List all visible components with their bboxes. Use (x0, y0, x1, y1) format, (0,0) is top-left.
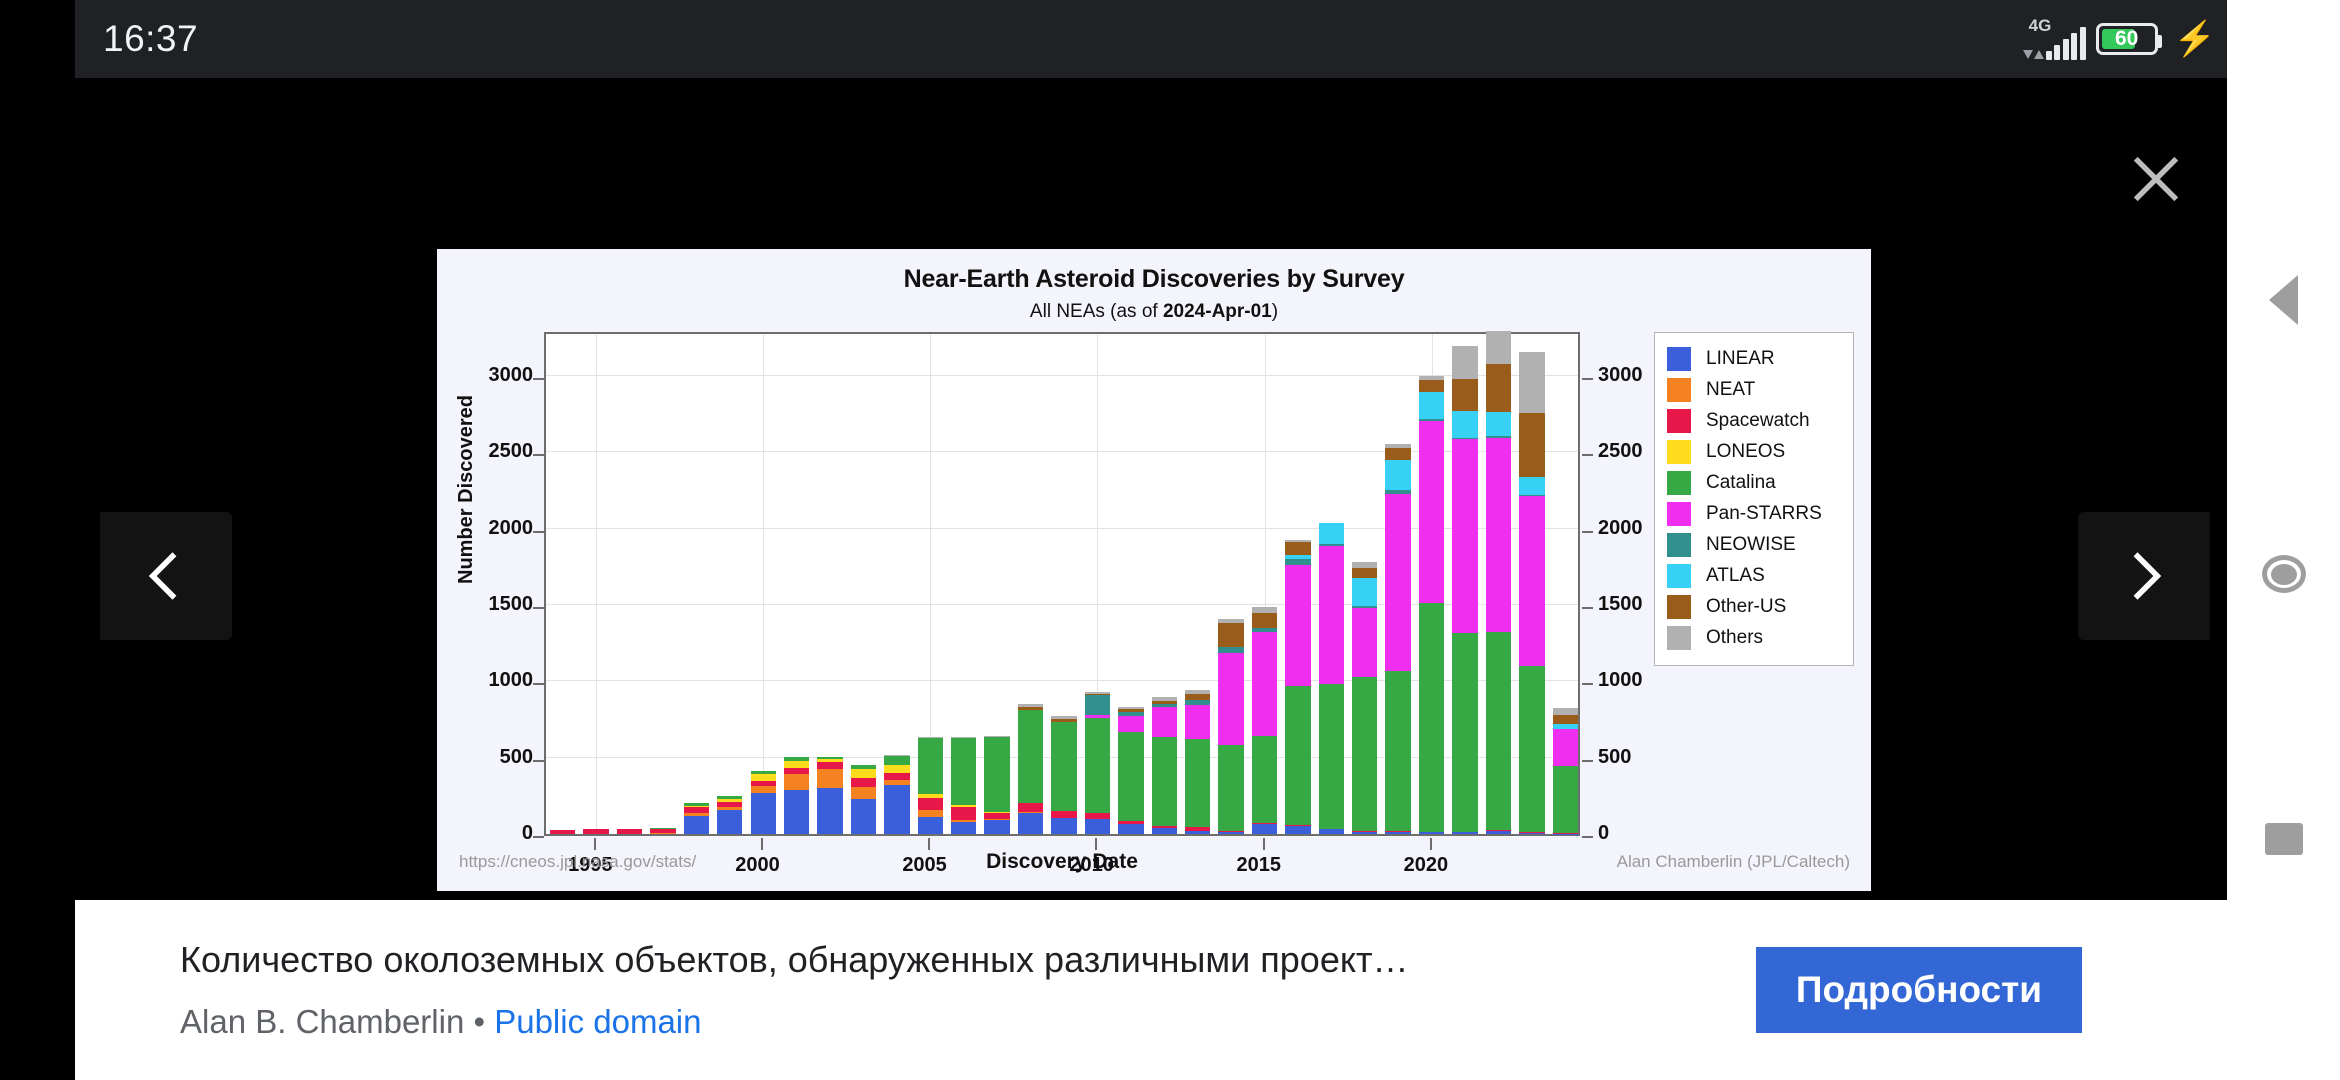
bar-segment (984, 737, 1009, 812)
bar-segment (1452, 832, 1477, 834)
bar-segment (550, 830, 575, 834)
y-axis-tick-label: 500 (500, 746, 533, 769)
bar-segment (1452, 633, 1477, 832)
legend-swatch (1667, 378, 1691, 402)
bar-segment (951, 807, 976, 820)
bar-segment (784, 774, 809, 789)
x-axis-tick-mark (928, 838, 930, 850)
bar-segment (751, 786, 776, 793)
chart-bar (1319, 523, 1344, 834)
legend-label: NEOWISE (1706, 534, 1796, 556)
x-axis-tick-mark (594, 838, 596, 850)
bar-segment (1185, 831, 1210, 834)
bar-segment (1419, 392, 1444, 419)
source-url: https://cneos.jpl.nasa.gov/stats/ (459, 852, 696, 872)
bar-segment (984, 820, 1009, 835)
bar-segment (1419, 603, 1444, 832)
signal-icon: 4G (2023, 18, 2086, 60)
bar-segment (1218, 745, 1243, 831)
bar-segment (1486, 438, 1511, 632)
bar-segment (1319, 523, 1344, 544)
bar-segment (851, 787, 876, 799)
chart-bar (617, 829, 642, 834)
legend-swatch (1667, 533, 1691, 557)
bar-segment (1385, 448, 1410, 460)
bar-segment (1285, 826, 1310, 834)
chart-bar (784, 757, 809, 834)
y-axis-tick-mark (533, 607, 544, 609)
y-axis-tick-label-right: 3000 (1598, 364, 1643, 387)
bar-segment (1419, 421, 1444, 603)
y-axis-tick-mark (533, 454, 544, 456)
x-axis-tick-mark (761, 838, 763, 850)
bar-segment (1319, 546, 1344, 684)
system-navigation-bar (2227, 0, 2340, 1080)
chart-bar (1085, 692, 1110, 834)
bar-segment (1085, 819, 1110, 834)
y-axis-tick-label: 2000 (489, 517, 534, 540)
bar-segment (784, 790, 809, 834)
chart-credit: Alan Chamberlin (JPL/Caltech) (1617, 852, 1850, 872)
chart-bar (851, 765, 876, 834)
bar-segment (1018, 803, 1043, 811)
subtitle-prefix: All NEAs (as of (1030, 301, 1163, 322)
chart-bar (1486, 331, 1511, 834)
y-axis-tick-mark-right (1582, 760, 1593, 762)
y-axis-tick-label: 1000 (489, 669, 534, 692)
bar-segment (1152, 707, 1177, 738)
chart-title: Near-Earth Asteroid Discoveries by Surve… (437, 265, 1871, 294)
close-icon (2129, 152, 2183, 206)
bar-segment (1553, 766, 1578, 833)
bar-segment (918, 810, 943, 818)
legend-item: LINEAR (1667, 343, 1841, 374)
bar-segment (1553, 708, 1578, 716)
y-axis-tick-label: 0 (522, 822, 533, 845)
bar-segment (1352, 677, 1377, 831)
y-axis-tick-label-right: 500 (1598, 746, 1631, 769)
bar-segment (1252, 613, 1277, 628)
bar-segment (884, 785, 909, 834)
x-axis-label: Discovery Date (544, 850, 1580, 874)
chart-bar (1519, 352, 1544, 834)
legend-item: NEAT (1667, 374, 1841, 405)
chart-bar (1018, 704, 1043, 834)
chart-bar (1553, 708, 1578, 834)
bar-segment (1486, 364, 1511, 411)
y-axis-tick-mark (533, 683, 544, 685)
chart-bar (1118, 707, 1143, 834)
charging-bolt-icon: ⚡ (2174, 22, 2216, 56)
legend-item: ATLAS (1667, 560, 1841, 591)
y-axis-tick-mark (533, 531, 544, 533)
caption-title: Количество околоземных объектов, обнаруж… (180, 939, 1726, 981)
bar-segment (1051, 722, 1076, 811)
chart-bar (1452, 346, 1477, 834)
subtitle-suffix: ) (1272, 301, 1278, 322)
next-image-button[interactable] (2078, 512, 2210, 640)
legend-swatch (1667, 347, 1691, 371)
bar-segment (1385, 832, 1410, 834)
bar-segment (1553, 729, 1578, 766)
y-axis-tick-mark-right (1582, 531, 1593, 533)
battery-percent-label: 60 (2099, 27, 2155, 51)
legend-label: ATLAS (1706, 565, 1765, 587)
chart-bar (884, 755, 909, 834)
bar-segment (1452, 411, 1477, 438)
bar-segment (884, 756, 909, 764)
y-axis-tick-mark (533, 836, 544, 838)
y-axis-label: Number Discovered (455, 395, 478, 584)
chart-bar (684, 803, 709, 834)
y-axis-tick-mark-right (1582, 836, 1593, 838)
y-axis-tick-label: 1500 (489, 593, 534, 616)
legend-swatch (1667, 502, 1691, 526)
signal-bars-icon (2046, 27, 2086, 60)
bar-segment (1252, 632, 1277, 736)
bar-segment (918, 798, 943, 809)
legend-label: Others (1706, 627, 1763, 649)
chevron-right-icon (2115, 547, 2173, 605)
legend-label: Other-US (1706, 596, 1786, 618)
bar-segment (784, 761, 809, 769)
bar-segment (1352, 608, 1377, 677)
legend-swatch (1667, 440, 1691, 464)
bar-segment (1118, 732, 1143, 821)
legend-label: Spacewatch (1706, 410, 1810, 432)
legend-item: Others (1667, 622, 1841, 653)
bar-segment (1218, 623, 1243, 647)
chart-bar (650, 828, 675, 834)
y-axis-tick-mark-right (1582, 454, 1593, 456)
bar-segment (1085, 695, 1110, 715)
network-type-label: 4G (2029, 16, 2052, 36)
bar-segment (1218, 832, 1243, 834)
y-axis-tick-mark-right (1582, 683, 1593, 685)
license-link[interactable]: Public domain (494, 1003, 701, 1040)
subtitle-date: 2024-Apr-01 (1163, 301, 1272, 322)
bar-segment (1553, 715, 1578, 724)
phone-screen: 16:37 4G 60 ⚡ Near (0, 0, 2340, 1080)
nav-home-button[interactable] (2262, 555, 2306, 593)
bar-segment (1352, 568, 1377, 579)
legend-label: Catalina (1706, 472, 1776, 494)
chart-bar (1385, 444, 1410, 834)
chart-subtitle: All NEAs (as of 2024-Apr-01) (437, 301, 1871, 323)
chart-bar (918, 737, 943, 834)
bar-segment (1118, 716, 1143, 733)
chart-bar (984, 736, 1009, 834)
previous-image-button[interactable] (100, 512, 232, 640)
bar-segment (1519, 352, 1544, 413)
nav-recents-button[interactable] (2265, 823, 2303, 855)
bar-segment (951, 738, 976, 805)
bar-segment (751, 793, 776, 834)
bar-segment (817, 788, 842, 834)
bars-layer (546, 334, 1578, 834)
y-axis-tick-label: 3000 (489, 364, 534, 387)
bar-segment (1352, 832, 1377, 834)
chart-bar (1185, 690, 1210, 834)
bar-segment (617, 829, 642, 834)
caption-author: Alan B. Chamberlin (180, 1003, 464, 1040)
nav-back-button[interactable] (2269, 275, 2298, 325)
bar-segment (650, 833, 675, 834)
y-axis-tick-label-right: 1000 (1598, 669, 1643, 692)
bar-segment (1085, 718, 1110, 813)
bar-segment (1152, 737, 1177, 826)
bar-segment (1519, 666, 1544, 832)
bar-segment (717, 810, 742, 834)
chart-bar (1218, 619, 1243, 834)
chart-bar (751, 771, 776, 834)
bar-segment (918, 817, 943, 834)
chart-bar (550, 830, 575, 834)
home-circle-icon (2262, 555, 2306, 593)
bar-segment (1419, 380, 1444, 392)
legend-item: LONEOS (1667, 436, 1841, 467)
bar-segment (1352, 578, 1377, 605)
x-axis-tick-mark (1263, 838, 1265, 850)
x-axis-tick-mark (1095, 838, 1097, 850)
legend-swatch (1667, 471, 1691, 495)
legend-swatch (1667, 626, 1691, 650)
legend-label: NEAT (1706, 379, 1755, 401)
y-axis-tick-mark (533, 760, 544, 762)
chart-bar (817, 757, 842, 834)
bar-segment (1452, 346, 1477, 379)
bar-segment (1051, 811, 1076, 818)
chart-bar (1051, 716, 1076, 834)
data-arrows-icon (2023, 50, 2044, 59)
bar-segment (918, 738, 943, 795)
bar-segment (884, 773, 909, 780)
bar-segment (951, 822, 976, 834)
bar-segment (1185, 705, 1210, 739)
legend-item: Spacewatch (1667, 405, 1841, 436)
y-axis-tick-label-right: 2000 (1598, 517, 1643, 540)
legend-item: Other-US (1667, 591, 1841, 622)
bar-segment (851, 799, 876, 834)
bar-segment (884, 765, 909, 773)
bar-segment (1385, 671, 1410, 831)
bar-segment (851, 778, 876, 787)
chart-bar (1352, 562, 1377, 834)
back-triangle-icon (2269, 275, 2298, 325)
chart-bar (1152, 697, 1177, 834)
chart-bar (1419, 376, 1444, 834)
caption-separator: • (464, 1003, 494, 1040)
bar-segment (1452, 379, 1477, 411)
legend-item: Catalina (1667, 467, 1841, 498)
chart-legend: LINEARNEATSpacewatchLONEOSCatalinaPan-ST… (1654, 332, 1854, 666)
chart-bar (1252, 607, 1277, 835)
bar-segment (1452, 439, 1477, 633)
bar-segment (1285, 565, 1310, 686)
bar-segment (1486, 632, 1511, 831)
bar-segment (1018, 813, 1043, 834)
chart-bar (717, 796, 742, 834)
legend-label: LINEAR (1706, 348, 1775, 370)
caption-text: Количество околоземных объектов, обнаруж… (180, 939, 1726, 1041)
chart-bar (583, 829, 608, 834)
legend-swatch (1667, 409, 1691, 433)
bar-segment (1486, 412, 1511, 436)
y-axis-tick-mark (533, 378, 544, 380)
status-bar: 16:37 4G 60 ⚡ (75, 0, 2240, 78)
y-axis-tick-mark-right (1582, 607, 1593, 609)
battery-icon: 60 (2096, 23, 2158, 55)
legend-swatch (1667, 595, 1691, 619)
y-axis-tick-label-right: 1500 (1598, 593, 1643, 616)
legend-item: Pan-STARRS (1667, 498, 1841, 529)
legend-label: Pan-STARRS (1706, 503, 1822, 525)
details-button[interactable]: Подробности (1756, 947, 2082, 1033)
bar-segment (817, 769, 842, 788)
bar-segment (851, 769, 876, 777)
status-clock: 16:37 (103, 18, 198, 60)
y-axis-tick-label-right: 0 (1598, 822, 1609, 845)
legend-swatch (1667, 564, 1691, 588)
bar-segment (1419, 832, 1444, 834)
recent-square-icon (2265, 823, 2303, 855)
bar-segment (684, 816, 709, 834)
status-indicators: 4G 60 ⚡ (2023, 18, 2216, 60)
bar-segment (817, 762, 842, 769)
caption-attribution: Alan B. Chamberlin • Public domain (180, 1003, 1726, 1041)
bar-segment (1319, 684, 1344, 828)
y-axis-tick-label: 2500 (489, 440, 534, 463)
bar-segment (1018, 710, 1043, 803)
chevron-left-icon (137, 547, 195, 605)
bar-segment (1319, 829, 1344, 834)
bar-segment (1118, 824, 1143, 834)
x-axis-tick-mark (1430, 838, 1432, 850)
bar-segment (1152, 828, 1177, 834)
bar-segment (1486, 331, 1511, 365)
bar-segment (1285, 542, 1310, 555)
bar-segment (583, 829, 608, 834)
legend-label: LONEOS (1706, 441, 1785, 463)
bar-segment (1519, 496, 1544, 666)
bar-segment (1218, 653, 1243, 745)
y-axis-tick-label-right: 2500 (1598, 440, 1643, 463)
bar-segment (1519, 833, 1544, 834)
bar-segment (1486, 831, 1511, 834)
bar-segment (1385, 494, 1410, 671)
bar-segment (1519, 477, 1544, 495)
bar-segment (1252, 736, 1277, 822)
chart-bar (1285, 540, 1310, 834)
bar-segment (1252, 824, 1277, 834)
legend-item: NEOWISE (1667, 529, 1841, 560)
y-axis-tick-mark-right (1582, 378, 1593, 380)
bar-segment (1285, 686, 1310, 825)
chart-bar (951, 737, 976, 834)
bar-segment (751, 774, 776, 781)
bar-segment (1519, 413, 1544, 477)
close-button[interactable] (2117, 140, 2195, 218)
bar-segment (1385, 460, 1410, 490)
bar-segment (1051, 818, 1076, 834)
plot-area (544, 332, 1580, 836)
bar-segment (1185, 739, 1210, 828)
caption-bar: Количество околоземных объектов, обнаруж… (75, 900, 2240, 1080)
